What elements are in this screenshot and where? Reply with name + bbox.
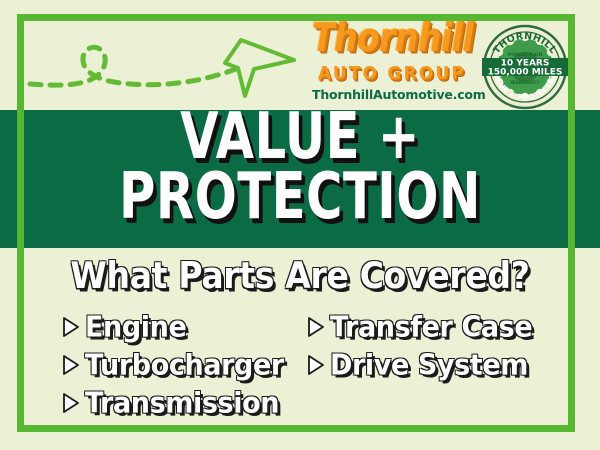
headline-line-2: PROTECTION [24, 168, 576, 227]
seal-miles-text: 150,000 MILES [488, 68, 563, 78]
list-item: Drive System [305, 346, 550, 384]
list-item: Engine [60, 308, 305, 346]
covered-parts-left-column: Engine Turbocharger Transmission [60, 308, 305, 422]
triangle-right-icon [305, 354, 325, 376]
list-item-label: Drive System [330, 349, 528, 382]
warranty-promo-card: Thornhill AUTO GROUP ThornhillAutomotive… [0, 0, 600, 450]
list-item-label: Turbocharger [85, 349, 284, 382]
dashed-loop-path-arrow-icon [26, 22, 301, 104]
sub-headline: What Parts Are Covered? [0, 254, 600, 297]
headline-line-1: VALUE + [24, 107, 576, 166]
triangle-right-icon [305, 316, 325, 338]
list-item: Turbocharger [60, 346, 305, 384]
list-item: Transfer Case [305, 308, 550, 346]
list-item-label: Transfer Case [330, 311, 532, 344]
list-item-label: Transmission [85, 387, 279, 420]
thornhill-logo: Thornhill AUTO GROUP ThornhillAutomotive… [312, 24, 472, 102]
logo-subtitle-text: AUTO GROUP [312, 66, 472, 84]
list-item-label: Engine [85, 311, 186, 344]
main-headline: VALUE + PROTECTION [0, 112, 600, 222]
seal-warranty-text: WARRANTY [510, 80, 540, 86]
covered-parts-right-column: Transfer Case Drive System [305, 308, 550, 422]
warranty-seal-badge: THORNHILL VALUE + PROTECTION POWERTRAIN … [482, 24, 568, 110]
covered-parts-list: Engine Turbocharger Transmission Tra [60, 308, 550, 422]
logo-brand-text: Thornhill [312, 18, 472, 57]
seal-powertrain-text: POWERTRAIN [508, 52, 543, 58]
triangle-right-icon [60, 316, 80, 338]
triangle-right-icon [60, 392, 80, 414]
list-item: Transmission [60, 384, 305, 422]
triangle-right-icon [60, 354, 80, 376]
